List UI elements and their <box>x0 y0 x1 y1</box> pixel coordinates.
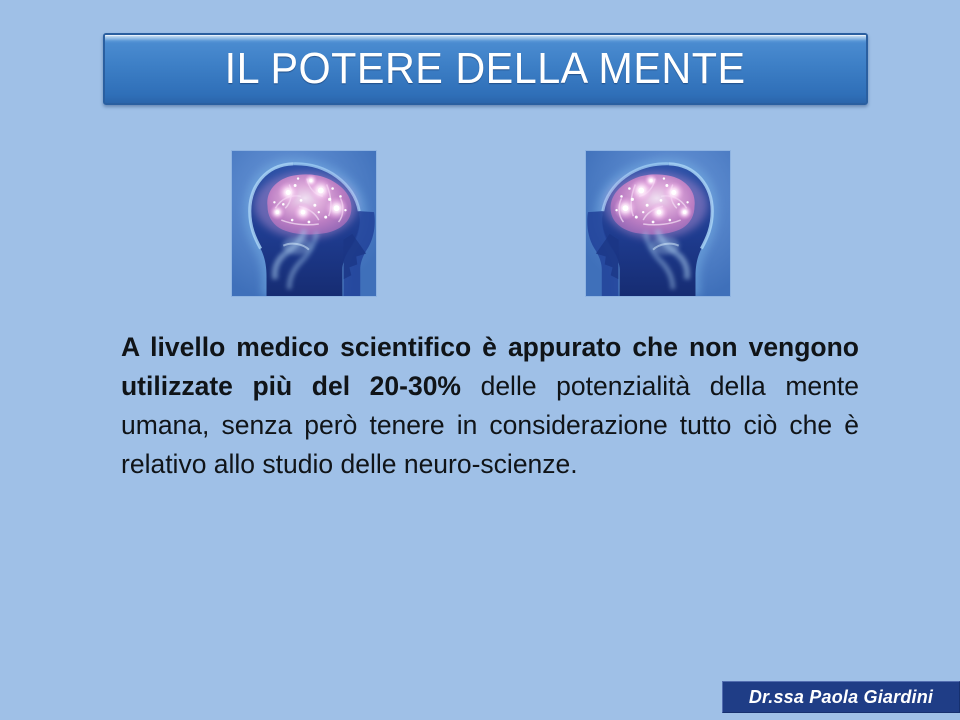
page-title: IL POTERE DELLA MENTE <box>225 44 746 94</box>
author-credit-text: Dr.ssa Paola Giardini <box>749 687 933 708</box>
author-credit-badge: Dr.ssa Paola Giardini <box>722 681 960 713</box>
brain-head-icon <box>232 151 376 296</box>
body-paragraph: A livello medico scientifico è appurato … <box>121 328 859 484</box>
slide-title-banner: IL POTERE DELLA MENTE <box>103 33 868 105</box>
brain-head-icon <box>586 151 730 296</box>
brain-image-right <box>585 150 731 297</box>
slide-body-text: A livello medico scientifico è appurato … <box>121 328 859 484</box>
brain-image-left <box>231 150 377 297</box>
presentation-slide: IL POTERE DELLA MENTE <box>0 0 960 720</box>
